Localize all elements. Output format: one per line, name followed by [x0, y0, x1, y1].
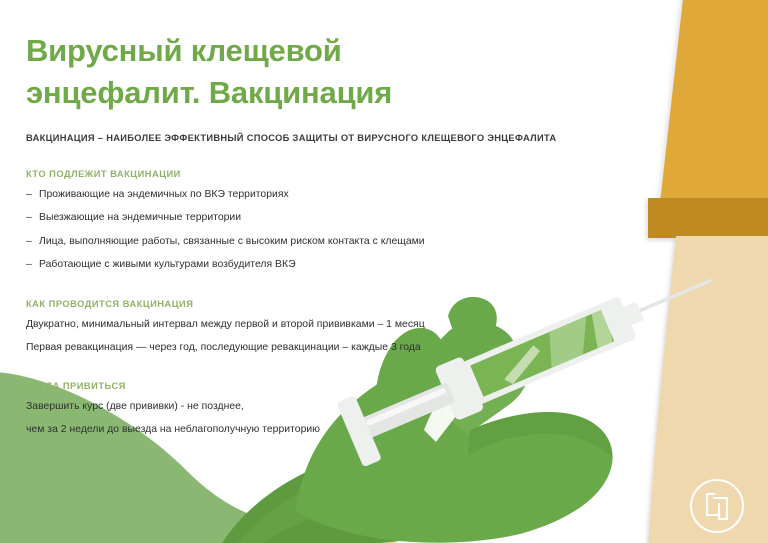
bullet-dash: –: [26, 213, 39, 223]
body-line: Первая ревакцинация — через год, последу…: [26, 343, 768, 353]
poster-subtitle: ВАКЦИНАЦИЯ – НАИБОЛЕЕ ЭФФЕКТИВНЫЙ СПОСОБ…: [26, 133, 768, 143]
body-line: Двукратно, минимальный интервал между пе…: [26, 320, 768, 330]
poster-canvas: Вирусный клещевой энцефалит. Вакцинация …: [0, 0, 768, 543]
bullet-dash: –: [26, 260, 39, 270]
body-line: Завершить курс (две прививки) - не поздн…: [26, 402, 768, 412]
section-when-to-vaccinate: КОГДА ПРИВИТЬСЯ Завершить курс (две прив…: [26, 381, 768, 436]
section-how-vaccination-performed: КАК ПРОВОДИТСЯ ВАКЦИНАЦИЯ Двукратно, мин…: [26, 299, 768, 354]
section-heading: КОГДА ПРИВИТЬСЯ: [26, 381, 768, 391]
list-item-text: Работающие с живыми культурами возбудите…: [39, 260, 296, 270]
list-item: – Лица, выполняющие работы, связанные с …: [26, 237, 768, 247]
poster-text-content: Вирусный клещевой энцефалит. Вакцинация …: [0, 0, 768, 543]
list-item: – Выезжающие на эндемичные территории: [26, 213, 768, 223]
list-item: – Проживающие на эндемичных по ВКЭ терри…: [26, 190, 768, 200]
logo-watermark: [688, 477, 746, 535]
page-title: Вирусный клещевой энцефалит. Вакцинация: [26, 30, 546, 113]
page-title-line-2: энцефалит. Вакцинация: [26, 72, 546, 114]
list-item-text: Проживающие на эндемичных по ВКЭ террито…: [39, 190, 289, 200]
circular-monogram-icon: [688, 477, 746, 535]
list-item: – Работающие с живыми культурами возбуди…: [26, 260, 768, 270]
list-item-text: Выезжающие на эндемичные территории: [39, 213, 241, 223]
bullet-dash: –: [26, 190, 39, 200]
section-heading: КТО ПОДЛЕЖИТ ВАКЦИНАЦИИ: [26, 169, 768, 179]
bullet-dash: –: [26, 237, 39, 247]
section-who-needs-vaccination: КТО ПОДЛЕЖИТ ВАКЦИНАЦИИ – Проживающие на…: [26, 169, 768, 271]
section-heading: КАК ПРОВОДИТСЯ ВАКЦИНАЦИЯ: [26, 299, 768, 309]
body-line: чем за 2 недели до выезда на неблагополу…: [26, 425, 768, 435]
page-title-line-1: Вирусный клещевой: [26, 30, 546, 72]
list-item-text: Лица, выполняющие работы, связанные с вы…: [39, 237, 425, 247]
